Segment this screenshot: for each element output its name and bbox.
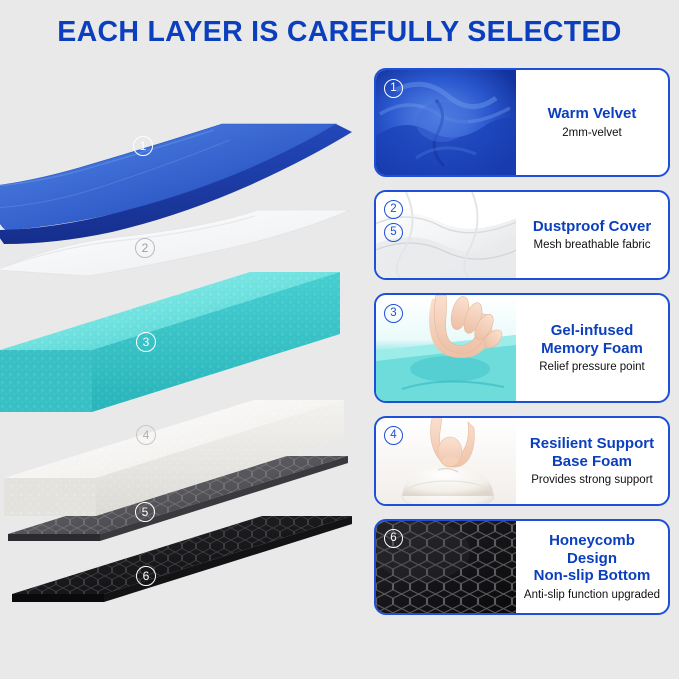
card-subtitle: Relief pressure point [539, 360, 644, 374]
card-title-line1: Gel-infused [551, 322, 634, 340]
card-honeycomb-bottom[interactable]: 6 [374, 519, 670, 615]
card-badge-1: 1 [384, 79, 403, 98]
card-subtitle: Anti-slip function upgraded [524, 588, 660, 602]
card-subtitle: 2mm-velvet [562, 126, 621, 140]
card-subtitle: Provides strong support [531, 473, 652, 487]
card-text-gel-memory-foam: Gel-infused Memory Foam Relief pressure … [516, 295, 668, 401]
product-infographic: EACH LAYER IS CAREFULLY SELECTED [0, 0, 679, 679]
layer-stack-illustration: 1 2 3 4 5 6 [0, 60, 370, 660]
card-title: Dustproof Cover [533, 218, 651, 236]
card-text-dustproof-cover: Dustproof Cover Mesh breathable fabric [516, 192, 668, 278]
feature-card-list: 1 [374, 68, 670, 628]
card-title-line2: Base Foam [552, 453, 632, 471]
card-badge-4: 4 [384, 426, 403, 445]
card-text-warm-velvet: Warm Velvet 2mm-velvet [516, 70, 668, 175]
layer-badge-4: 4 [136, 425, 156, 445]
card-resilient-support-foam[interactable]: 4 [374, 416, 670, 506]
card-text-resilient-support-foam: Resilient Support Base Foam Provides str… [516, 418, 668, 504]
card-title: Warm Velvet [548, 105, 637, 123]
card-warm-velvet[interactable]: 1 [374, 68, 670, 177]
card-title-line2: Non-slip Bottom [534, 567, 651, 585]
layer-badge-5: 5 [135, 502, 155, 522]
layer-badge-2: 2 [135, 238, 155, 258]
card-badge-3: 3 [384, 304, 403, 323]
card-title-line1: Honeycomb Design [522, 532, 662, 567]
card-gel-memory-foam[interactable]: 3 [374, 293, 670, 403]
card-title-line1: Resilient Support [530, 435, 654, 453]
layer-badge-3: 3 [136, 332, 156, 352]
card-subtitle: Mesh breathable fabric [534, 238, 651, 252]
card-text-honeycomb-bottom: Honeycomb Design Non-slip Bottom Anti-sl… [516, 521, 668, 613]
card-badge-6: 6 [384, 529, 403, 548]
card-badge-5: 5 [384, 223, 403, 242]
layer-badge-1: 1 [133, 136, 153, 156]
layer-3-shape [0, 272, 340, 412]
card-title-line2: Memory Foam [541, 340, 643, 358]
page-title: EACH LAYER IS CAREFULLY SELECTED [0, 16, 679, 49]
layer-badge-6: 6 [136, 566, 156, 586]
card-badge-2: 2 [384, 200, 403, 219]
card-dustproof-cover[interactable]: 2 5 [374, 190, 670, 280]
